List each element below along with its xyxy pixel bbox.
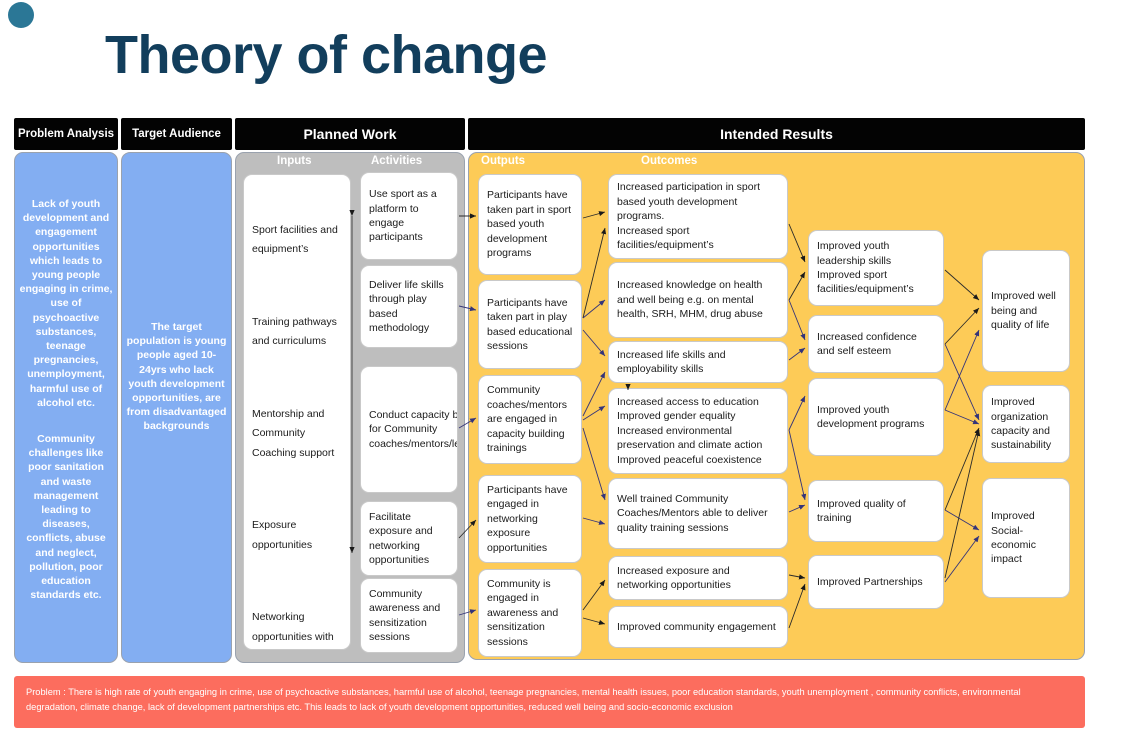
input-item: Sport facilities and equipment’s	[252, 221, 342, 260]
output-box: Participants have engaged in networking …	[478, 475, 582, 563]
final-impact-box: Improved Social-economic impact	[982, 478, 1070, 598]
input-item: Networking opportunities with different …	[252, 608, 342, 650]
column-label-inputs: Inputs	[277, 155, 312, 167]
final-impact-box: Improved well being and quality of life	[982, 250, 1070, 372]
output-box: Participants have taken part in play bas…	[478, 280, 582, 369]
output-box: Participants have taken part in sport ba…	[478, 174, 582, 275]
input-item: Training pathways and curriculums	[252, 313, 342, 352]
output-box: Community coaches/mentors are engaged in…	[478, 375, 582, 464]
input-item: Exposure opportunities	[252, 516, 342, 555]
bullet-dot-icon	[8, 2, 34, 28]
activity-box: Use sport as a platform to engage partic…	[360, 172, 458, 260]
outcome-box: Increased exposure and networking opport…	[608, 556, 788, 600]
target-audience-paragraph-1: The target population is young people ag…	[125, 320, 228, 434]
intermediate-impact-box: Improved quality of training	[808, 480, 944, 542]
header-label: Problem Analysis	[18, 128, 114, 140]
page-title: Theory of change	[105, 24, 547, 86]
problem-analysis-paragraph-2: Community challenges like poor sanitatio…	[18, 432, 114, 602]
inputs-box: Sport facilities and equipment’s Trainin…	[243, 174, 351, 650]
intermediate-impact-box: Increased confidence and self esteem	[808, 315, 944, 373]
activity-box: Facilitate exposure and networking oppor…	[360, 501, 458, 576]
intermediate-impact-box: Improved Partnerships	[808, 555, 944, 609]
outcome-box: Well trained Community Coaches/Mentors a…	[608, 478, 788, 549]
header-label: Planned Work	[303, 126, 396, 142]
header-label: Intended Results	[720, 126, 833, 142]
header-intended-results: Intended Results	[468, 118, 1085, 150]
intermediate-impact-box: Improved youth leadership skills Improve…	[808, 230, 944, 306]
header-target-audience: Target Audience	[121, 118, 232, 150]
outcome-box: Increased knowledge on health and well b…	[608, 262, 788, 338]
input-item: Mentorship and Community Coaching suppor…	[252, 405, 342, 464]
theory-of-change-slide: Theory of change Problem Analysis Target…	[0, 0, 1125, 740]
header-problem-analysis: Problem Analysis	[14, 118, 118, 150]
output-box: Community is engaged in awareness and se…	[478, 569, 582, 657]
column-label-outputs: Outputs	[481, 155, 525, 167]
intermediate-impact-box: Improved youth development programs	[808, 378, 944, 456]
problem-statement-banner: Problem : There is high rate of youth en…	[14, 676, 1085, 728]
activity-box: Community awareness and sensitization se…	[360, 578, 458, 653]
activity-box: Conduct capacity building trainings for …	[360, 366, 458, 493]
outcome-box: Increased access to education Improved g…	[608, 388, 788, 474]
column-label-activities: Activities	[371, 155, 422, 167]
problem-analysis-paragraph-1: Lack of youth development and engagement…	[18, 197, 114, 410]
header-planned-work: Planned Work	[235, 118, 465, 150]
activity-box: Deliver life skills through play based m…	[360, 265, 458, 348]
final-impact-box: Improved organization capacity and susta…	[982, 385, 1070, 463]
outcome-box: Increased participation in sport based y…	[608, 174, 788, 259]
outcome-box: Improved community engagement	[608, 606, 788, 648]
header-label: Target Audience	[132, 128, 221, 140]
outcome-box: Increased life skills and employability …	[608, 341, 788, 383]
column-label-outcomes: Outcomes	[641, 155, 697, 167]
